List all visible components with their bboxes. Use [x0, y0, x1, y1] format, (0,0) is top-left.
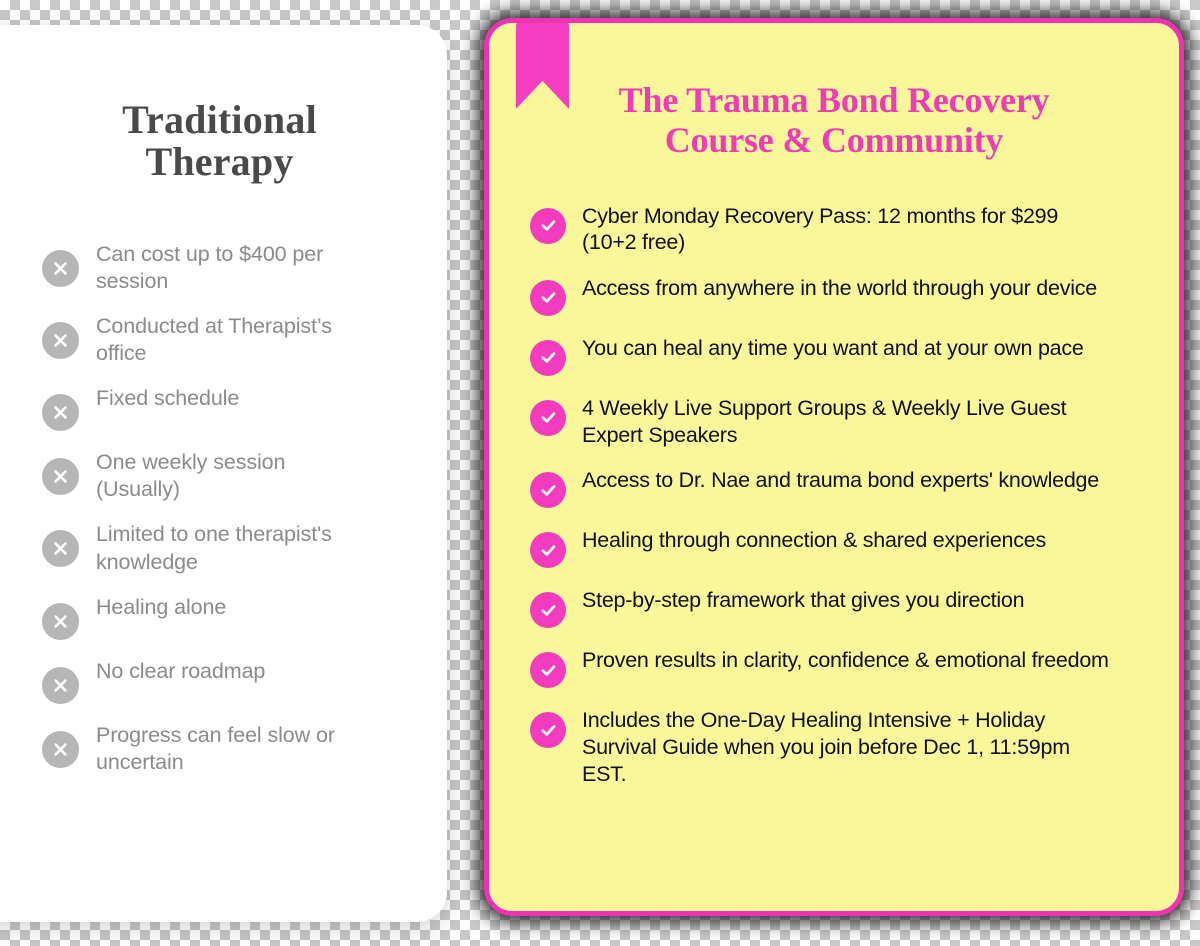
left-card-title: Traditional Therapy	[8, 99, 409, 183]
list-item: Healing alone	[42, 594, 403, 640]
list-item: Access to Dr. Nae and trauma bond expert…	[530, 467, 1147, 508]
x-circle-icon	[42, 667, 79, 704]
list-item-label: Healing alone	[96, 594, 226, 621]
check-circle-icon	[530, 400, 566, 436]
list-item-label: You can heal any time you want and at yo…	[582, 335, 1084, 362]
right-card-title-line2: Course & Community	[535, 120, 1133, 160]
traditional-therapy-list: Can cost up to $400 per session Conducte…	[8, 241, 409, 776]
list-item-label: Can cost up to $400 per session	[96, 241, 368, 295]
list-item: Step-by-step framework that gives you di…	[530, 587, 1147, 628]
left-card-title-line1: Traditional	[122, 97, 317, 142]
trauma-bond-course-card: The Trauma Bond Recovery Course & Commun…	[484, 18, 1184, 916]
list-item-label: Access from anywhere in the world throug…	[582, 275, 1097, 302]
list-item-label: Limited to one therapist's knowledge	[96, 521, 368, 575]
list-item-label: One weekly session (Usually)	[96, 449, 368, 503]
list-item: Conducted at Therapist’s office	[42, 313, 403, 367]
check-circle-icon	[530, 592, 566, 628]
list-item: Fixed schedule	[42, 385, 403, 431]
list-item: Can cost up to $400 per session	[42, 241, 403, 295]
list-item-label: Proven results in clarity, confidence & …	[582, 647, 1109, 674]
list-item: Proven results in clarity, confidence & …	[530, 647, 1147, 688]
list-item-label: Cyber Monday Recovery Pass: 12 months fo…	[582, 203, 1112, 256]
x-circle-icon	[42, 731, 79, 768]
list-item-label: Healing through connection & shared expe…	[582, 527, 1046, 554]
right-card-title: The Trauma Bond Recovery Course & Commun…	[489, 23, 1179, 161]
list-item-label: Includes the One-Day Healing Intensive +…	[582, 707, 1112, 787]
x-circle-icon	[42, 603, 79, 640]
list-item: Progress can feel slow or uncertain	[42, 722, 403, 776]
list-item-label: 4 Weekly Live Support Groups & Weekly Li…	[582, 395, 1112, 448]
check-circle-icon	[530, 208, 566, 244]
list-item: Includes the One-Day Healing Intensive +…	[530, 707, 1147, 787]
list-item-label: Progress can feel slow or uncertain	[96, 722, 368, 776]
check-circle-icon	[530, 340, 566, 376]
x-circle-icon	[42, 458, 79, 495]
traditional-therapy-card: Traditional Therapy Can cost up to $400 …	[0, 25, 447, 922]
list-item-label: No clear roadmap	[96, 658, 265, 685]
x-circle-icon	[42, 250, 79, 287]
list-item: Access from anywhere in the world throug…	[530, 275, 1147, 316]
list-item: You can heal any time you want and at yo…	[530, 335, 1147, 376]
list-item-label: Access to Dr. Nae and trauma bond expert…	[582, 467, 1099, 494]
list-item-label: Step-by-step framework that gives you di…	[582, 587, 1024, 614]
list-item: One weekly session (Usually)	[42, 449, 403, 503]
check-circle-icon	[530, 280, 566, 316]
left-card-title-line2: Therapy	[30, 141, 409, 183]
check-circle-icon	[530, 472, 566, 508]
check-circle-icon	[530, 652, 566, 688]
x-circle-icon	[42, 322, 79, 359]
right-card-title-line1: The Trauma Bond Recovery	[619, 80, 1050, 120]
trauma-bond-course-list: Cyber Monday Recovery Pass: 12 months fo…	[489, 203, 1179, 788]
list-item: 4 Weekly Live Support Groups & Weekly Li…	[530, 395, 1147, 448]
x-circle-icon	[42, 530, 79, 567]
list-item: Limited to one therapist's knowledge	[42, 521, 403, 575]
list-item-label: Fixed schedule	[96, 385, 239, 412]
check-circle-icon	[530, 712, 566, 748]
x-circle-icon	[42, 394, 79, 431]
list-item: Cyber Monday Recovery Pass: 12 months fo…	[530, 203, 1147, 256]
list-item-label: Conducted at Therapist’s office	[96, 313, 368, 367]
list-item: No clear roadmap	[42, 658, 403, 704]
comparison-stage: Traditional Therapy Can cost up to $400 …	[0, 0, 1200, 946]
list-item: Healing through connection & shared expe…	[530, 527, 1147, 568]
check-circle-icon	[530, 532, 566, 568]
